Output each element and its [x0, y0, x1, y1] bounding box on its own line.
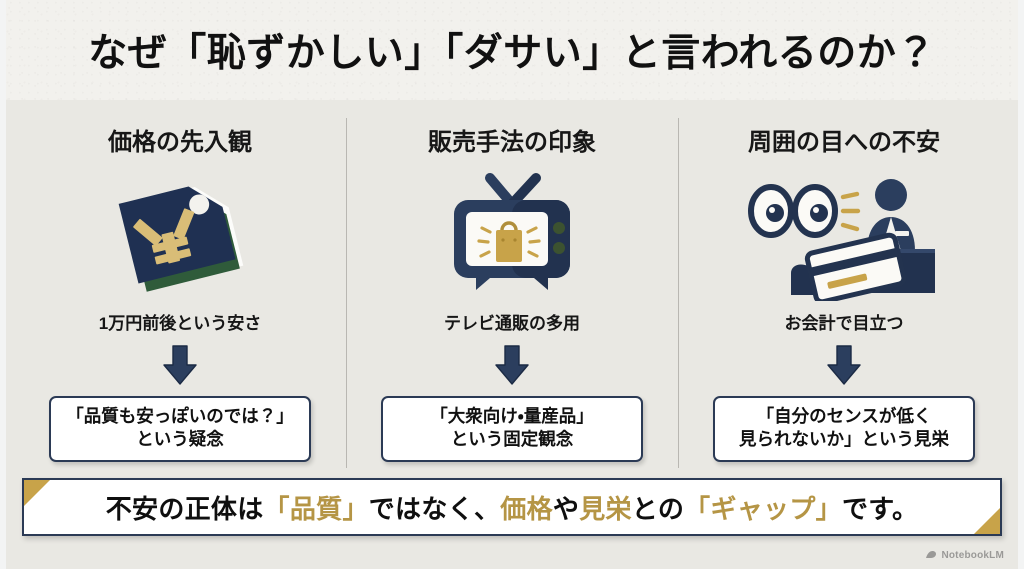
columns-container: 価格の先入観	[14, 110, 1010, 472]
conclusion-banner: 不安の正体は「品質」ではなく、価格や見栄との「ギャップ」です。	[22, 478, 1002, 536]
outcome-line-1: 「大衆向け・量産品」	[397, 405, 627, 428]
notebooklm-watermark: NotebookLM	[925, 549, 1004, 561]
icon-slot	[102, 165, 258, 305]
column-caption: テレビ通販の多用	[444, 309, 580, 334]
column-title: 販売手法の印象	[428, 122, 596, 157]
conclusion-segment-0: 不安の正体は	[106, 494, 264, 524]
notebooklm-label: NotebookLM	[941, 550, 1004, 561]
outcome-line-1: 「品質も安っぽいのでは？」	[65, 405, 295, 428]
icon-slot	[739, 165, 949, 305]
outcome-line-2: 見られないか」という見栄	[729, 428, 959, 451]
down-arrow-icon	[160, 344, 200, 386]
television-shopping-icon	[432, 170, 592, 300]
conclusion-segment-1: 「品質」	[264, 494, 369, 524]
outcome-box: 「大衆向け・量産品」 という固定観念	[381, 396, 643, 462]
conclusion-segment-6: との	[632, 494, 684, 524]
conclusion-text: 不安の正体は「品質」ではなく、価格や見栄との「ギャップ」です。	[106, 489, 919, 526]
column-fear-of-others-eyes: 周囲の目への不安	[678, 110, 1010, 472]
outcome-line-1: 「自分のセンスが低く	[729, 405, 959, 428]
page-title: なぜ「恥ずかしい」「ダサい」と言われるのか？	[88, 22, 936, 78]
down-arrow-icon	[824, 344, 864, 386]
column-title: 周囲の目への不安	[748, 122, 940, 157]
down-arrow-icon	[492, 344, 532, 386]
column-caption: お会計で目立つ	[785, 309, 904, 334]
conclusion-segment-3: 価格	[500, 494, 553, 524]
conclusion-segment-7: 「ギャップ」	[684, 494, 842, 524]
column-sales-method-impression: 販売手法の印象	[346, 110, 678, 472]
corner-accent-bottom-right	[974, 508, 1000, 534]
outcome-box: 「品質も安っぽいのでは？」 という疑念	[49, 396, 311, 462]
price-tag-yen-icon	[102, 172, 258, 298]
conclusion-segment-5: 見栄	[579, 494, 632, 524]
column-price-preconception: 価格の先入観	[14, 110, 346, 472]
slide-canvas: なぜ「恥ずかしい」「ダサい」と言われるのか？ 価格の先入観	[0, 0, 1024, 569]
outcome-line-2: という固定観念	[397, 428, 627, 451]
slide-body: 価格の先入観	[0, 100, 1024, 569]
column-title: 価格の先入観	[108, 122, 252, 157]
conclusion-segment-8: です。	[842, 494, 918, 524]
conclusion-segment-4: や	[553, 494, 579, 524]
corner-accent-top-left	[24, 480, 50, 506]
outcome-box: 「自分のセンスが低く 見られないか」という見栄	[713, 396, 975, 462]
notebooklm-icon	[925, 549, 937, 561]
eyes-watching-card-payment-icon	[739, 169, 949, 301]
outcome-line-2: という疑念	[65, 428, 295, 451]
conclusion-segment-2: ではなく、	[369, 494, 501, 524]
slide-header: なぜ「恥ずかしい」「ダサい」と言われるのか？	[0, 0, 1024, 101]
icon-slot	[432, 165, 592, 305]
column-caption: 1万円前後という安さ	[99, 309, 261, 334]
